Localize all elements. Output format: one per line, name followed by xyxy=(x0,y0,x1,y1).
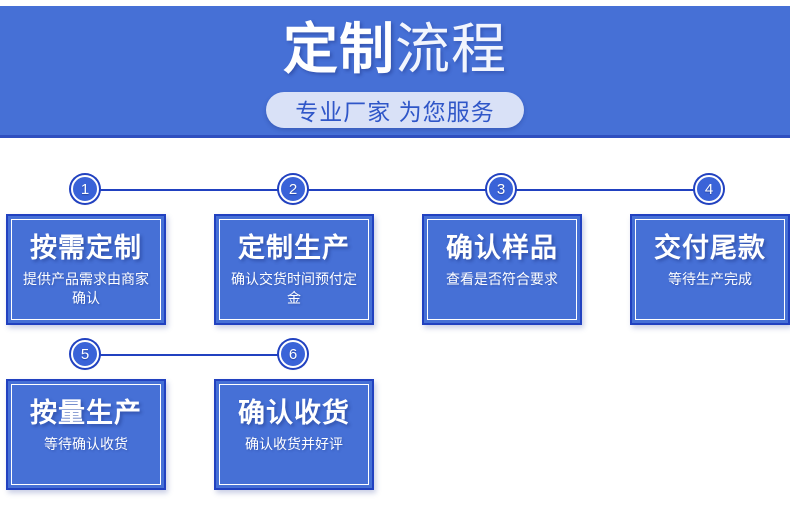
step-card-3-title: 确认样品 xyxy=(446,234,558,263)
step-card-4-subtitle: 等待生产完成 xyxy=(643,270,777,288)
step-marker-1-label: 1 xyxy=(81,182,89,197)
step-track-row-1: 1 2 3 4 xyxy=(0,175,790,205)
subtitle-pill: 专业厂家 为您服务 xyxy=(266,92,524,128)
subtitle-text: 专业厂家 为您服务 xyxy=(295,93,494,127)
step-track-row-2: 5 6 xyxy=(0,340,790,370)
step-marker-2: 2 xyxy=(279,175,307,203)
step-card-2[interactable]: 定制生产 确认交货时间预付定金 xyxy=(214,214,374,325)
step-card-5-title: 按量生产 xyxy=(30,399,142,428)
header-banner: 定制流程 专业厂家 为您服务 xyxy=(0,6,790,138)
step-card-2-inner: 定制生产 确认交货时间预付定金 xyxy=(219,219,369,320)
step-card-6-title: 确认收货 xyxy=(238,399,350,428)
step-marker-3: 3 xyxy=(487,175,515,203)
step-marker-2-label: 2 xyxy=(289,182,297,197)
step-card-5-subtitle: 等待确认收货 xyxy=(19,435,153,453)
step-card-1-title: 按需定制 xyxy=(30,234,142,263)
track-line-row-2 xyxy=(85,354,279,356)
step-marker-6: 6 xyxy=(279,340,307,368)
step-marker-5: 5 xyxy=(71,340,99,368)
step-card-5-inner: 按量生产 等待确认收货 xyxy=(11,384,161,485)
step-card-4[interactable]: 交付尾款 等待生产完成 xyxy=(630,214,790,325)
customization-process-infographic: 定制流程 专业厂家 为您服务 1 2 3 4 按需定制 提供产品需求由商家确认 … xyxy=(0,0,790,516)
step-marker-5-label: 5 xyxy=(81,347,89,362)
step-card-4-title: 交付尾款 xyxy=(654,234,766,263)
step-marker-4: 4 xyxy=(695,175,723,203)
step-card-6-subtitle: 确认收货并好评 xyxy=(227,435,361,453)
step-marker-4-label: 4 xyxy=(705,182,713,197)
page-title: 定制流程 xyxy=(0,22,790,77)
banner-underline xyxy=(0,135,790,138)
step-card-3-subtitle: 查看是否符合要求 xyxy=(435,270,569,288)
step-card-6-inner: 确认收货 确认收货并好评 xyxy=(219,384,369,485)
step-card-2-title: 定制生产 xyxy=(238,234,350,263)
step-marker-3-label: 3 xyxy=(497,182,505,197)
track-line-row-1 xyxy=(85,189,710,191)
page-title-light: 流程 xyxy=(395,18,507,80)
page-title-strong: 定制 xyxy=(283,18,395,80)
step-card-3-inner: 确认样品 查看是否符合要求 xyxy=(427,219,577,320)
step-card-4-inner: 交付尾款 等待生产完成 xyxy=(635,219,785,320)
step-card-1-subtitle: 提供产品需求由商家确认 xyxy=(19,270,153,307)
step-card-1-inner: 按需定制 提供产品需求由商家确认 xyxy=(11,219,161,320)
step-marker-1: 1 xyxy=(71,175,99,203)
step-card-5[interactable]: 按量生产 等待确认收货 xyxy=(6,379,166,490)
step-marker-6-label: 6 xyxy=(289,347,297,362)
step-card-6[interactable]: 确认收货 确认收货并好评 xyxy=(214,379,374,490)
step-card-3[interactable]: 确认样品 查看是否符合要求 xyxy=(422,214,582,325)
step-card-2-subtitle: 确认交货时间预付定金 xyxy=(227,270,361,307)
step-card-1[interactable]: 按需定制 提供产品需求由商家确认 xyxy=(6,214,166,325)
